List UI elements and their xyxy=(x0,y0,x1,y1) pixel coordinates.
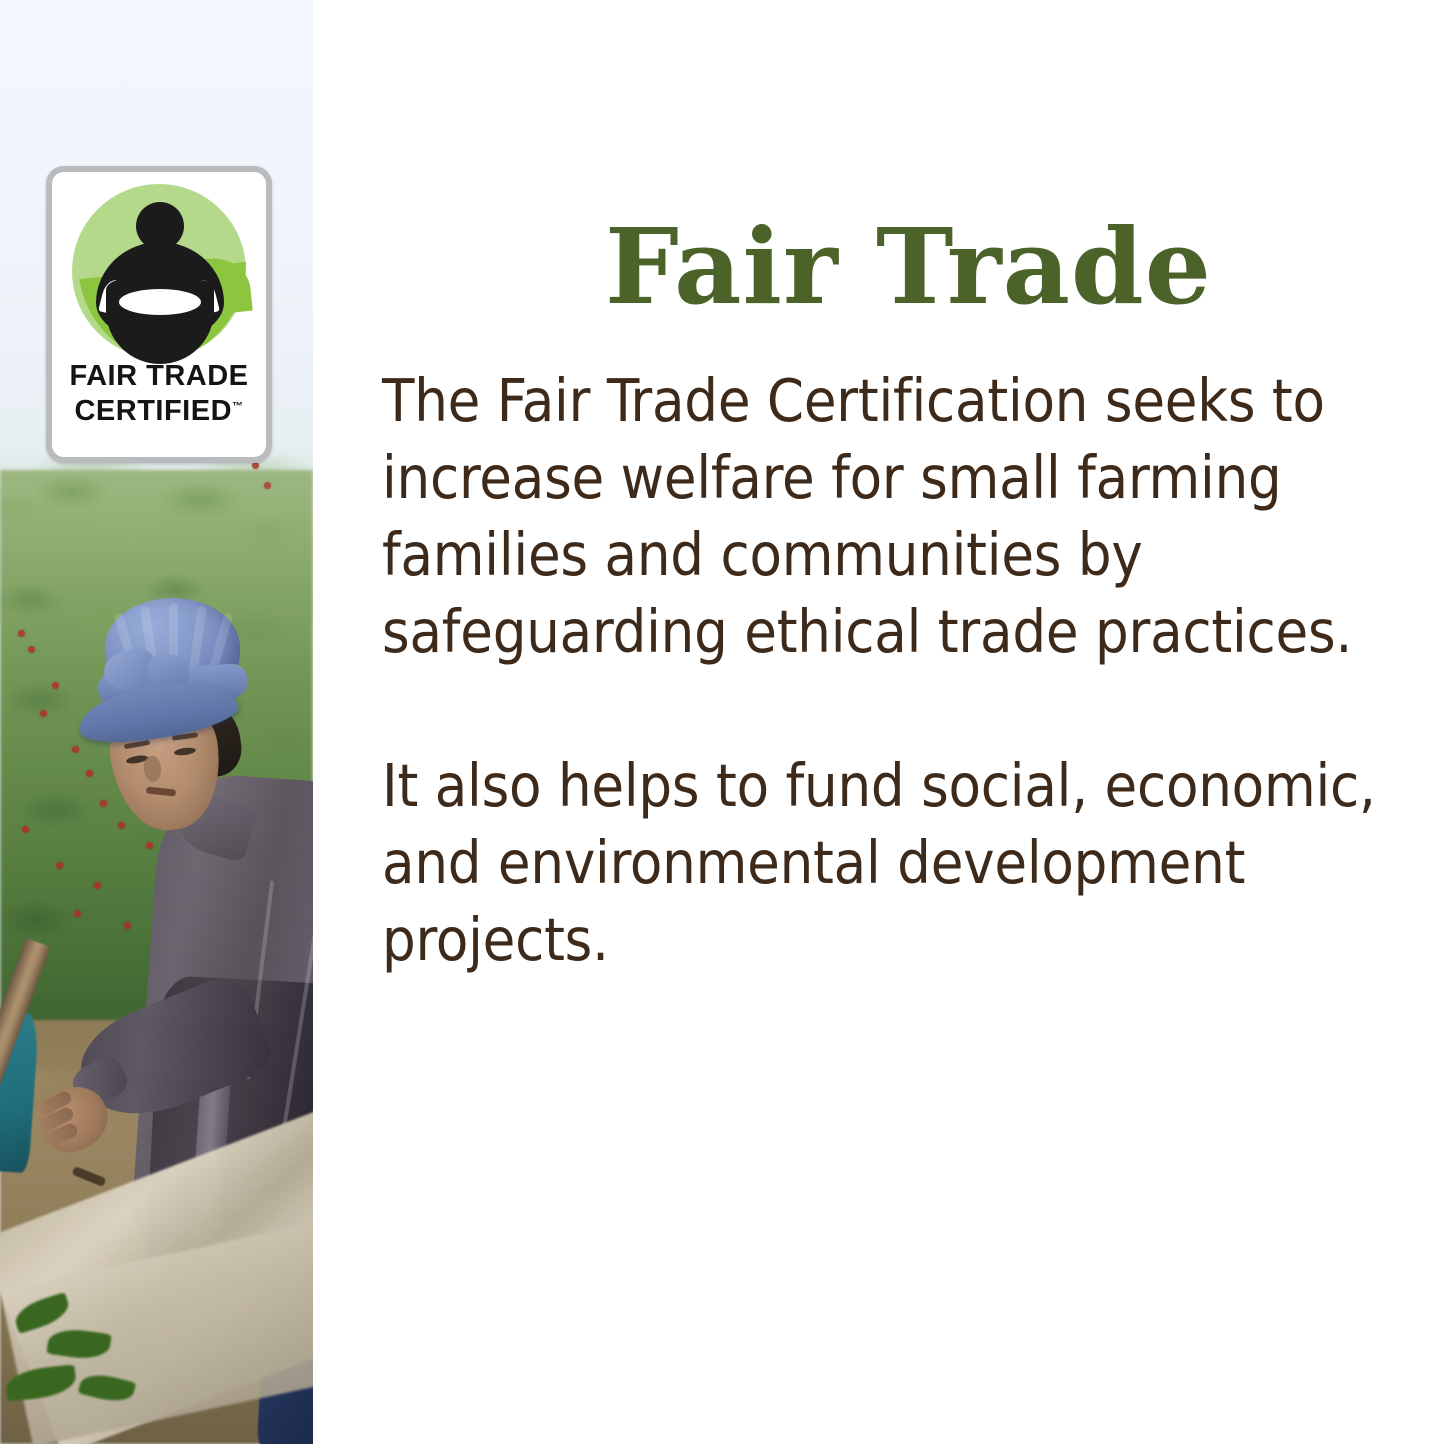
logo-line-1: FAIR TRADE xyxy=(52,362,266,391)
logo-wordmark: FAIR TRADE CERTIFIED™ xyxy=(52,362,266,426)
page-title: Fair Trade xyxy=(605,210,1212,324)
trademark-symbol: ™ xyxy=(232,400,244,412)
fair-trade-mark-icon xyxy=(72,184,246,358)
body-copy: The Fair Trade Certification seeks to in… xyxy=(382,362,1382,978)
fair-trade-certified-logo: FAIR TRADE CERTIFIED™ xyxy=(46,166,272,463)
paragraph-1: The Fair Trade Certification seeks to in… xyxy=(382,362,1382,670)
paragraph-2: It also helps to fund social, economic, … xyxy=(382,747,1382,978)
logo-line-2: CERTIFIED™ xyxy=(52,397,266,426)
logo-line-2-text: CERTIFIED xyxy=(74,395,232,427)
content-panel: Fair Trade The Fair Trade Certification … xyxy=(313,0,1445,1444)
fair-trade-info-card: FAIR TRADE CERTIFIED™ Fair Trade The Fai… xyxy=(0,0,1445,1444)
coffee-farmer-photo: FAIR TRADE CERTIFIED™ xyxy=(0,0,313,1444)
